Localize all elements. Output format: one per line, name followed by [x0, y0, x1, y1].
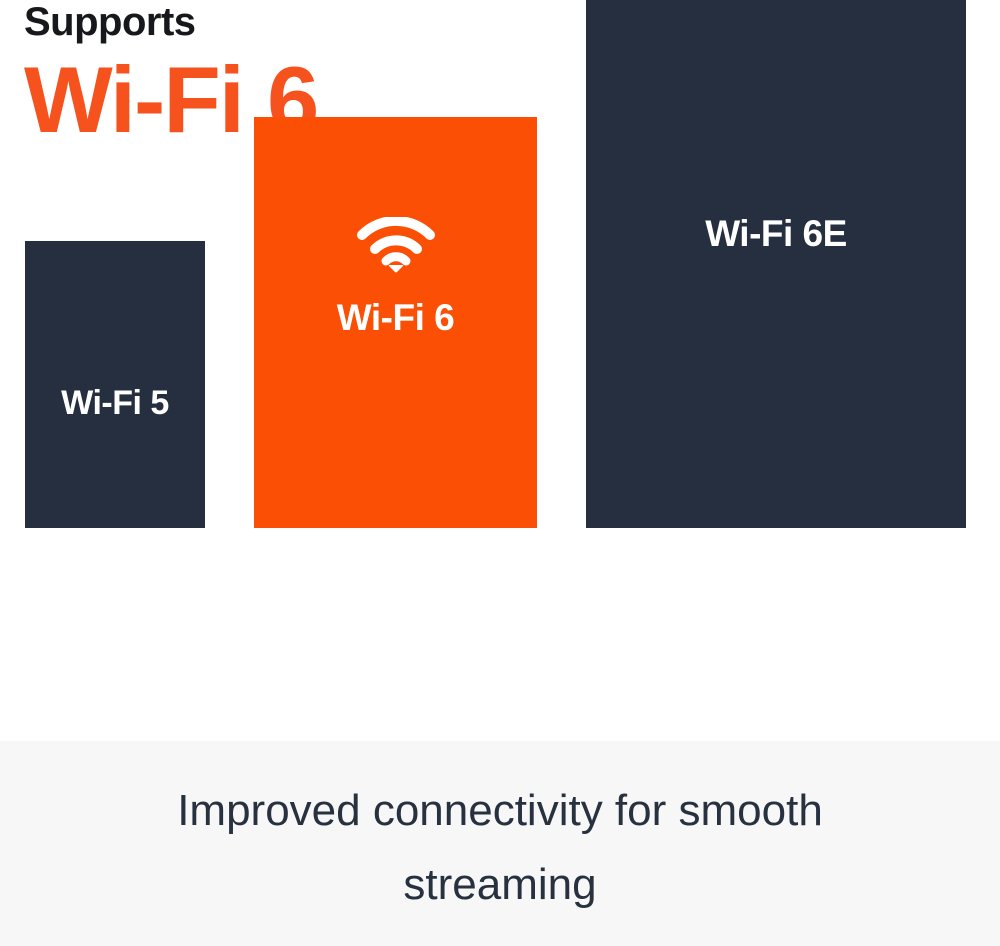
bar-label-wifi-6: Wi-Fi 6 — [337, 297, 454, 339]
bar-label-wifi-5: Wi-Fi 5 — [61, 384, 169, 423]
wifi-signal-icon — [356, 217, 436, 273]
caption-text: Improved connectivity for smooth streami… — [150, 774, 850, 922]
wifi6-infographic: Supports Wi-Fi 6 Wi-Fi 5 Wi-Fi 6 Wi-Fi 6… — [0, 0, 1000, 946]
bar-label-wifi-6e: Wi-Fi 6E — [705, 213, 847, 255]
bar-wifi-6: Wi-Fi 6 — [254, 117, 537, 528]
bar-wifi-6e: Wi-Fi 6E — [586, 0, 966, 528]
caption-band: Improved connectivity for smooth streami… — [0, 741, 1000, 946]
bar-wifi-5: Wi-Fi 5 — [25, 241, 205, 528]
bar-chart: Wi-Fi 5 Wi-Fi 6 Wi-Fi 6E — [0, 0, 1000, 737]
